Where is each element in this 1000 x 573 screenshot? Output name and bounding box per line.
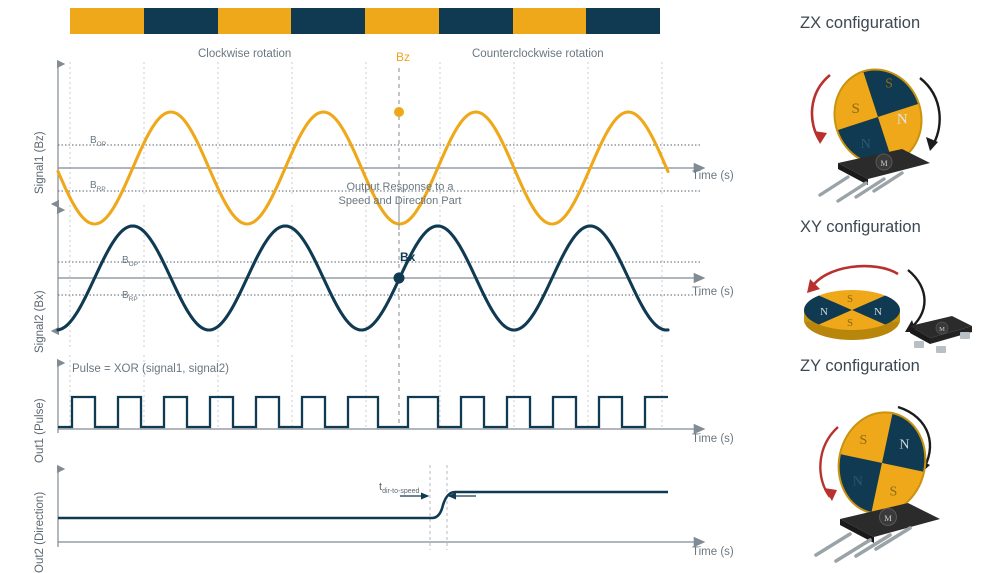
- zy-configuration-figure: S N N S M: [790, 385, 990, 560]
- black-cw-arrow-icon: [920, 78, 940, 148]
- pole-letter-s: S: [847, 293, 853, 305]
- plot-out2-ylabel: Out2 (Direction): [34, 492, 46, 573]
- plot-signal2-ylabel: Signal2 (Bx): [34, 290, 46, 353]
- gridlines: [70, 62, 662, 194]
- plot-signal1-ylabel: Signal1 (Bz): [34, 131, 46, 194]
- pole-letter-n2: N: [861, 137, 871, 152]
- pole-letter-n: N: [899, 437, 909, 452]
- pole-letter-n: N: [820, 306, 828, 318]
- black-cw-arrow-icon: [908, 270, 925, 330]
- bx-marker-dot: [394, 273, 405, 284]
- zx-configuration-title: ZX configuration: [800, 14, 920, 33]
- b-rp-label-signal1: BRP: [90, 180, 106, 193]
- bx-marker-label: Bx: [400, 250, 415, 264]
- magnet-segment-n-5: [439, 8, 513, 34]
- plot-out1-ylabel: Out1 (Pulse): [34, 398, 46, 463]
- plot-out2-canvas: [0, 455, 770, 565]
- magnet-strip: [70, 8, 660, 34]
- four-pole-magnet-disc-flat: S S N N: [802, 288, 902, 340]
- sot-package-sensor: M: [910, 316, 972, 353]
- pole-letter-n2: N: [853, 474, 863, 489]
- pole-letter-s2: S: [889, 484, 897, 499]
- pole-letter-n2: N: [874, 306, 882, 318]
- bz-marker-dot: [394, 107, 404, 117]
- to-package-sensor: M: [816, 503, 940, 561]
- out1-pulse-train: [58, 397, 668, 427]
- xor-note: Pulse = XOR (signal1, signal2): [72, 363, 229, 375]
- plot-out2: Out2 (Direction) tdir-to-speed Time (s): [0, 455, 770, 565]
- plot-signal1-canvas: [0, 44, 770, 194]
- sensor-logo-icon: M: [939, 326, 945, 333]
- b-op-label-signal1: BOP: [90, 135, 106, 148]
- red-arrow-head-icon: [824, 488, 837, 501]
- sensor-logo-icon: M: [880, 159, 887, 168]
- zy-configuration-title: ZY configuration: [800, 357, 920, 376]
- pole-letter-s2: S: [885, 76, 893, 91]
- sensor-logo-icon: M: [884, 513, 892, 523]
- red-ccw-arrow-icon: [810, 266, 898, 290]
- magnet-segment-n-3: [291, 8, 365, 34]
- four-pole-magnet-disc: S N N S: [826, 401, 938, 526]
- clockwise-rotation-label: Clockwise rotation: [198, 48, 291, 60]
- bz-marker-label: Bz: [396, 50, 410, 64]
- magnet-segment-n-7: [586, 8, 660, 34]
- pole-letter-s2: S: [847, 317, 853, 329]
- center-note: Output Response to a Speed and Direction…: [310, 180, 490, 208]
- magnet-segment-s-2: [218, 8, 292, 34]
- red-ccw-arrow-icon: [812, 75, 830, 141]
- out2-direction-step: [58, 492, 668, 518]
- plot-signal2-canvas: [0, 205, 770, 350]
- plot-signal2-xlabel: Time (s): [692, 286, 734, 298]
- red-ccw-arrow-icon: [820, 427, 838, 497]
- plot-signal2: Signal2 (Bx) Bx BOP BRP Time (s): [0, 205, 770, 350]
- diagram-root: Signal1 (Bz) Clockwise rotation Counterc…: [0, 0, 1000, 565]
- to-package-sensor: M: [820, 149, 930, 201]
- t-dir-to-speed-label: tdir-to-speed: [379, 481, 419, 495]
- magnet-segment-n-1: [144, 8, 218, 34]
- pole-letter-s: S: [859, 433, 867, 448]
- plot-out1-xlabel: Time (s): [692, 433, 734, 445]
- magnet-segment-s-4: [365, 8, 439, 34]
- magnet-segment-s-0: [70, 8, 144, 34]
- xy-configuration-figure: S S N N M: [790, 248, 990, 358]
- center-note-line1: Output Response to a: [310, 180, 490, 194]
- b-op-label-signal2: BOP: [122, 255, 138, 268]
- red-arrow-head-icon: [814, 131, 827, 144]
- plot-out2-xlabel: Time (s): [692, 546, 734, 558]
- pole-letter-n: N: [897, 111, 908, 127]
- plot-out1: Out1 (Pulse) Pulse = XOR (signal1, signa…: [0, 355, 770, 455]
- zx-configuration-figure: S N N S M: [790, 45, 990, 195]
- xy-configuration-title: XY configuration: [800, 218, 921, 237]
- pole-letter-s: S: [851, 101, 859, 117]
- b-rp-label-signal2: BRP: [122, 290, 138, 303]
- counterclockwise-rotation-label: Counterclockwise rotation: [472, 48, 604, 60]
- plot-signal1-xlabel: Time (s): [692, 170, 734, 182]
- plot-signal1: Signal1 (Bz) Clockwise rotation Counterc…: [0, 44, 770, 194]
- magnet-segment-s-6: [513, 8, 587, 34]
